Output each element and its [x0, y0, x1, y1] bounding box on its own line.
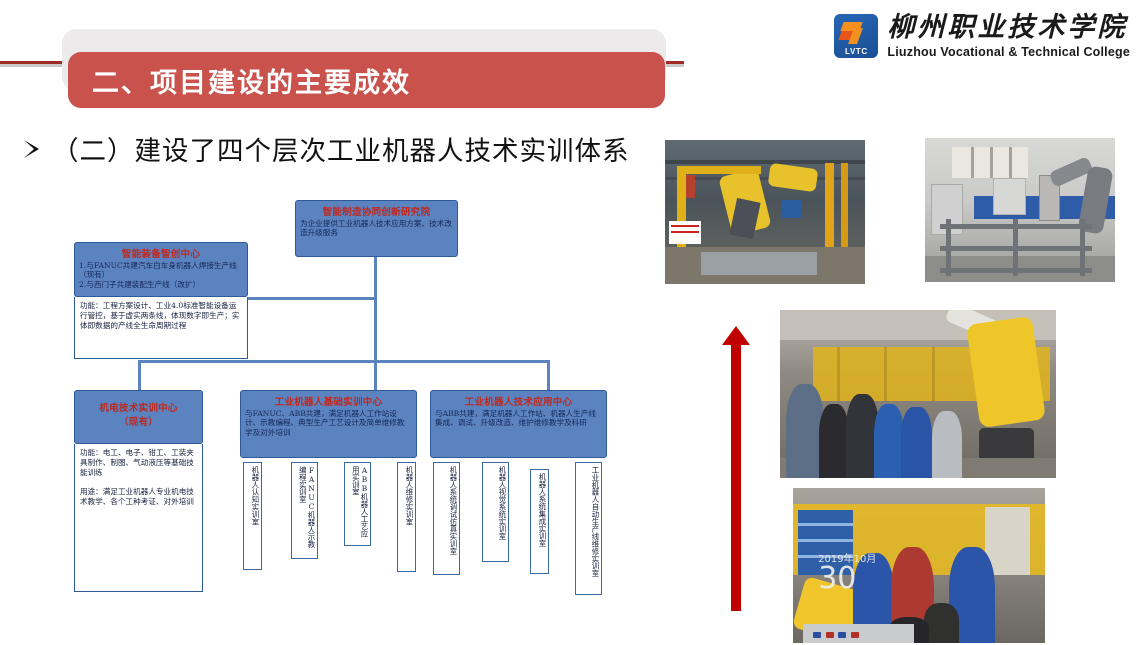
node-robot-application-center: 工业机器人技术应用中心 与ABB共建，满足机器人工作站、机器人生产线集成、调试、… — [430, 390, 607, 458]
node-mechatronics-center: 机电技术实训中心 （现有） — [74, 390, 203, 444]
lab-label: FANUC机器人示教编程实训室 — [291, 462, 318, 559]
lvtc-badge-icon: LVTC — [834, 14, 878, 58]
photo-detail — [665, 177, 865, 180]
photo-person — [874, 404, 904, 478]
logo-name-en: Liuzhou Vocational & Technical College — [887, 46, 1130, 59]
node-research-institute: 智能制造协同创新研究院 为企业提供工业机器人技术应用方案、技术改造升级服务 — [295, 200, 458, 257]
lab-label: 机器人认知实训室 — [243, 462, 262, 570]
photo-person — [932, 411, 962, 478]
photo-detail — [701, 252, 817, 275]
photo-timestamp: 2019年10月 30 — [818, 550, 876, 594]
photo-timestamp-day: 30 — [818, 565, 876, 594]
node-smart-equipment-note-text: 功能：工程方案设计、工业4.0标准智能设备运行管控，基于虚实两条线，体现数字即生… — [75, 297, 247, 335]
bullet-text: （二）建设了四个层次工业机器人技术实训体系 — [52, 129, 630, 168]
workshop-teaching-photo: 2019年10月 30 — [793, 488, 1045, 643]
connector-institute-down — [374, 257, 377, 362]
lab-label: ABB机器人工艺应用实训室 — [344, 462, 371, 546]
photo-detail — [851, 632, 859, 638]
assembly-line-photo — [925, 138, 1115, 282]
lab-label: 机器人系统调试仿真实训室 — [433, 462, 460, 575]
node-smart-equipment: 智能装备智创中心 1.与FANUC共建汽车白车身机器人焊接生产线（现有） 2.与… — [74, 242, 248, 297]
photo-person — [924, 603, 959, 643]
logo-wordmark: 柳州职业技术学院 Liuzhou Vocational & Technical … — [887, 14, 1130, 59]
node-robot-basic-center-body: 与FANUC、ABB共建，满足机器人工作站设计、示教编程、典型生产工艺设计及简单… — [241, 409, 416, 440]
photo-detail — [940, 219, 1092, 277]
photo-detail — [838, 632, 846, 638]
page-title: 二、项目建设的主要成效 — [92, 61, 411, 100]
connector-down-col1 — [138, 360, 141, 390]
photo-detail — [768, 163, 819, 192]
node-robot-basic-center: 工业机器人基础实训中心 与FANUC、ABB共建，满足机器人工作站设计、示教编程… — [240, 390, 417, 458]
lab-label: 工业机器人自动生产线维修实训室 — [575, 462, 602, 595]
photo-detail — [993, 178, 1025, 215]
lab-label: 机器人视觉系统实训室 — [482, 462, 509, 562]
photo-detail — [781, 200, 801, 217]
connector-down-col2 — [374, 360, 377, 390]
node-research-institute-body: 为企业提供工业机器人技术应用方案、技术改造升级服务 — [296, 219, 457, 241]
college-logo: LVTC 柳州职业技术学院 Liuzhou Vocational & Techn… — [834, 14, 1130, 59]
students-robot-training-photo — [780, 310, 1056, 478]
node-mechatronics-center-title: 机电技术实训中心 （现有） — [75, 391, 202, 429]
photo-detail — [677, 166, 761, 174]
section-title-bar: 二、项目建设的主要成效 — [68, 52, 665, 108]
photo-person — [819, 404, 849, 478]
slide-canvas: 二、项目建设的主要成效 LVTC 柳州职业技术学院 Liuzhou Vocati… — [0, 0, 1148, 645]
connector-down-col3 — [547, 360, 550, 390]
node-mechatronics-center-note-text: 功能：电工、电子、钳工、工装夹具制作、制图、气动液压等基础技能训练 用途：满足工… — [75, 444, 202, 511]
upward-progress-arrow — [731, 343, 741, 611]
node-mechatronics-center-note: 功能：电工、电子、钳工、工装夹具制作、制图、气动液压等基础技能训练 用途：满足工… — [74, 444, 203, 592]
node-smart-equipment-title: 智能装备智创中心 — [75, 243, 247, 261]
bullet-row: （二）建设了四个层次工业机器人技术实训体系 — [24, 129, 630, 168]
node-robot-basic-center-title: 工业机器人基础实训中心 — [241, 391, 416, 409]
training-system-diagram: 智能制造协同创新研究院 为企业提供工业机器人技术应用方案、技术改造升级服务 智能… — [62, 192, 622, 622]
node-smart-equipment-note: 功能：工程方案设计、工业4.0标准智能设备运行管控，基于虚实两条线，体现数字即生… — [74, 297, 248, 359]
photo-detail — [826, 632, 834, 638]
node-smart-equipment-body: 1.与FANUC共建汽车白车身机器人焊接生产线（现有） 2.与西门子共建装配生产… — [75, 261, 247, 292]
fanuc-welding-line-photo — [665, 140, 865, 284]
connector-bus-horizontal — [138, 360, 550, 363]
photo-person — [901, 407, 931, 478]
photo-detail — [952, 147, 1028, 179]
logo-badge-text: LVTC — [834, 47, 878, 56]
connector-institute-to-smart — [248, 297, 376, 300]
arrow-bullet-icon — [24, 140, 39, 158]
logo-name-cn: 柳州职业技术学院 — [887, 14, 1130, 41]
photo-detail — [665, 160, 865, 164]
node-robot-application-center-title: 工业机器人技术应用中心 — [431, 391, 606, 409]
photo-detail — [813, 632, 821, 638]
photo-warning-sign — [669, 221, 701, 244]
lab-label: 机器人系统集成实训室 — [530, 469, 549, 574]
node-research-institute-title: 智能制造协同创新研究院 — [296, 201, 457, 219]
lab-label: 机器人维修实训室 — [397, 462, 416, 572]
node-robot-application-center-body: 与ABB共建，满足机器人工作站、机器人生产线集成、调试、升级改造、维护维修教学及… — [431, 409, 606, 431]
